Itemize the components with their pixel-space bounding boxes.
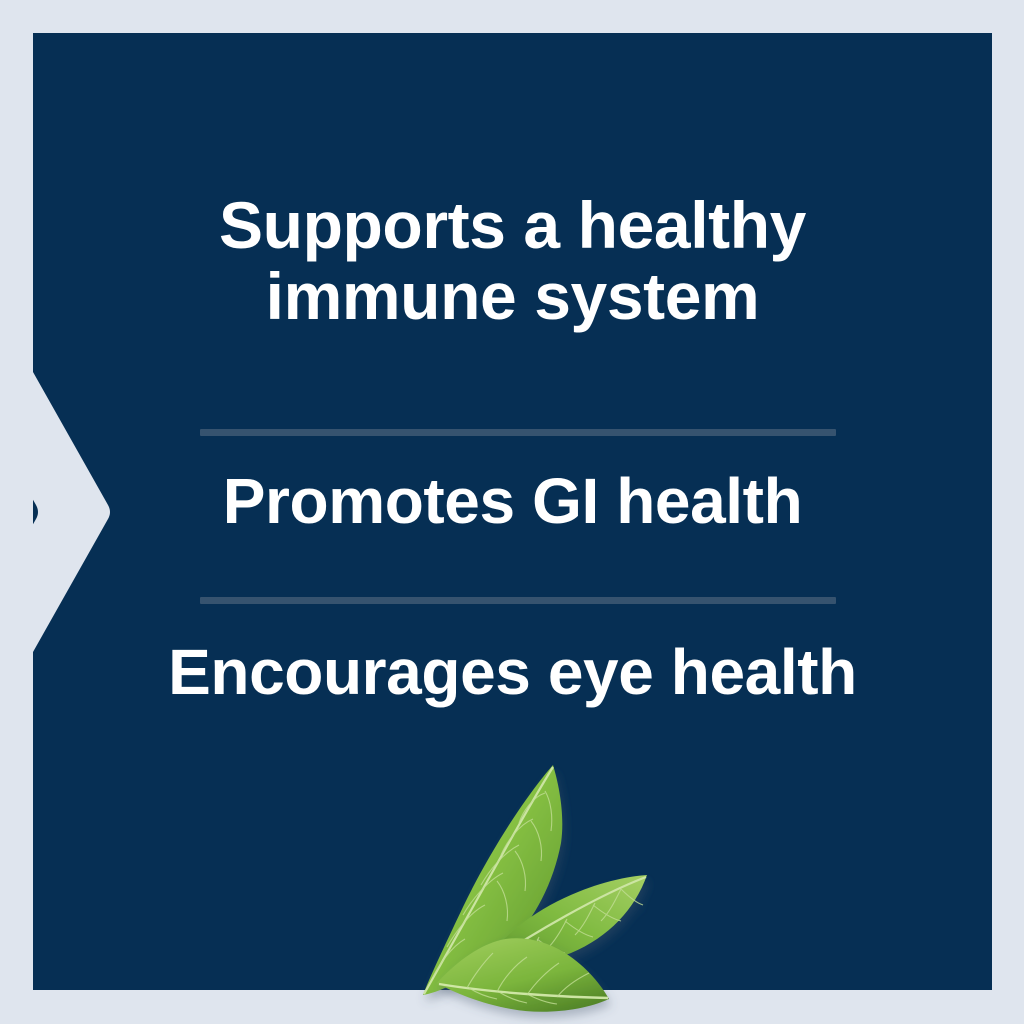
benefit-divider-1 [200,429,836,436]
callout-stage: Supports a healthy immune system Promote… [0,0,1024,1024]
benefit-immune-line-1: Supports a healthy [33,190,992,261]
benefit-item-eye: Encourages eye health [33,638,992,707]
benefit-divider-2 [200,597,836,604]
benefit-item-immune: Supports a healthy immune system [33,190,992,333]
benefit-eye-line-1: Encourages eye health [33,638,992,707]
benefit-gi-line-1: Promotes GI health [33,467,992,536]
benefit-item-gi: Promotes GI health [33,467,992,536]
benefits-list: Supports a healthy immune system Promote… [33,33,992,733]
benefit-immune-line-2: immune system [33,261,992,332]
